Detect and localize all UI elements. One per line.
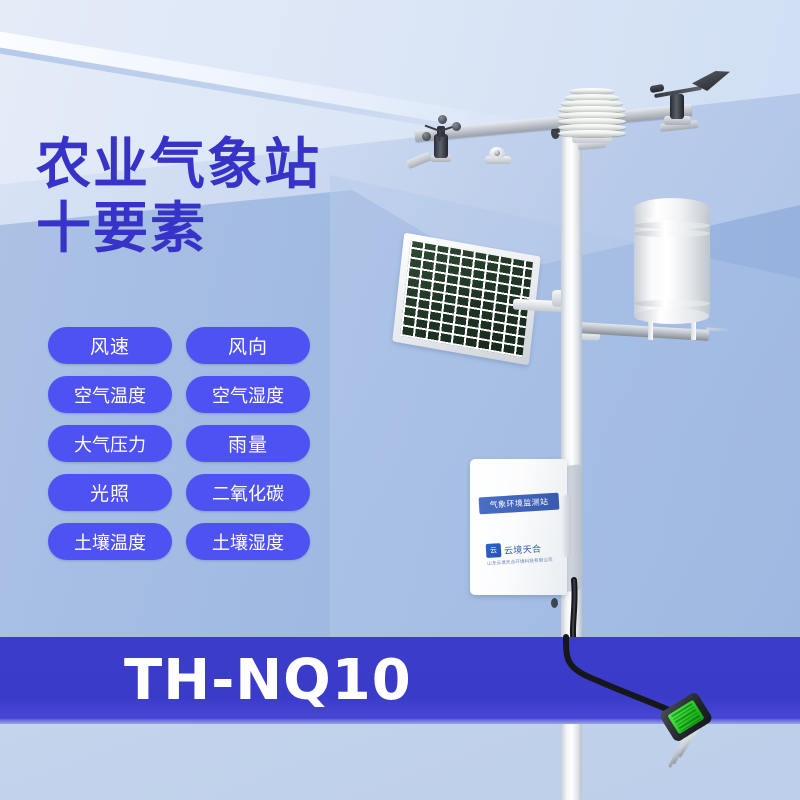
illuminance-sensor xyxy=(485,147,511,165)
rain-gauge-ring xyxy=(634,300,710,307)
anemometer-arm xyxy=(439,131,441,141)
vane-post xyxy=(670,94,684,119)
feature-tag-list: 风速 风向 空气温度 空气湿度 大气压力 雨量 光照 二氧化碳 土壤温度 土壤湿… xyxy=(48,327,328,572)
rain-gauge-ring xyxy=(634,222,710,229)
rain-gauge-leg xyxy=(691,322,696,340)
rain-gauge-leg xyxy=(648,322,653,340)
shield-plate-stack xyxy=(558,88,626,136)
page-title: 农业气象站 十要素 xyxy=(36,132,436,260)
rain-gauge xyxy=(634,196,710,328)
feature-tag-row: 空气温度 空气湿度 xyxy=(48,376,328,413)
rain-gauge-base xyxy=(635,308,709,324)
wind-direction-sensor xyxy=(650,68,728,130)
headline-line-2: 十要素 xyxy=(36,196,436,260)
model-number: TH-NQ10 xyxy=(124,648,412,713)
brand-logo-mark: 云 xyxy=(486,543,502,558)
feature-tag-row: 土壤温度 土壤湿度 xyxy=(48,523,328,560)
enclosure-title-text: 气象环境监测站 xyxy=(489,496,548,511)
anemometer-cup xyxy=(452,122,461,131)
light-sensor-lens xyxy=(494,150,500,156)
rain-gauge-funnel xyxy=(634,198,710,220)
soil-probe-overlay xyxy=(664,700,734,770)
shield-plate xyxy=(558,130,626,137)
feature-tag-rainfall[interactable]: 雨量 xyxy=(186,425,310,462)
feature-tag-soil-humidity[interactable]: 土壤湿度 xyxy=(186,523,310,560)
feature-tag-wind-speed[interactable]: 风速 xyxy=(48,327,172,364)
feature-tag-air-temperature[interactable]: 空气温度 xyxy=(48,376,172,413)
feature-tag-illuminance[interactable]: 光照 xyxy=(48,474,172,511)
product-poster: 气象环境监测站 云 云境天合 山东云境天合环境科技有限公司 农业气象站 十要素 … xyxy=(0,0,800,800)
feature-tag-air-humidity[interactable]: 空气湿度 xyxy=(186,376,310,413)
air-temperature-humidity-shield xyxy=(556,88,628,150)
brand-logo-text: 云境天合 xyxy=(504,541,542,556)
anemometer-cup xyxy=(438,115,447,124)
headline-line-1: 农业气象站 xyxy=(36,132,321,196)
anemometer-post xyxy=(434,134,448,158)
feature-tag-row: 光照 二氧化碳 xyxy=(48,474,328,511)
control-enclosure: 气象环境监测站 云 云境天合 山东云境天合环境科技有限公司 xyxy=(470,455,582,597)
enclosure-front-panel xyxy=(470,459,567,595)
mast-port-lower xyxy=(551,598,558,608)
feature-tag-wind-direction[interactable]: 风向 xyxy=(186,327,310,364)
enclosure-hinge xyxy=(562,495,571,557)
feature-tag-carbon-dioxide[interactable]: 二氧化碳 xyxy=(186,474,310,511)
feature-tag-air-pressure[interactable]: 大气压力 xyxy=(48,425,172,462)
rain-gauge-ring xyxy=(634,230,710,237)
feature-tag-row: 大气压力 雨量 xyxy=(48,425,328,462)
feature-tag-row: 风速 风向 xyxy=(48,327,328,364)
feature-tag-soil-temperature[interactable]: 土壤温度 xyxy=(48,523,172,560)
